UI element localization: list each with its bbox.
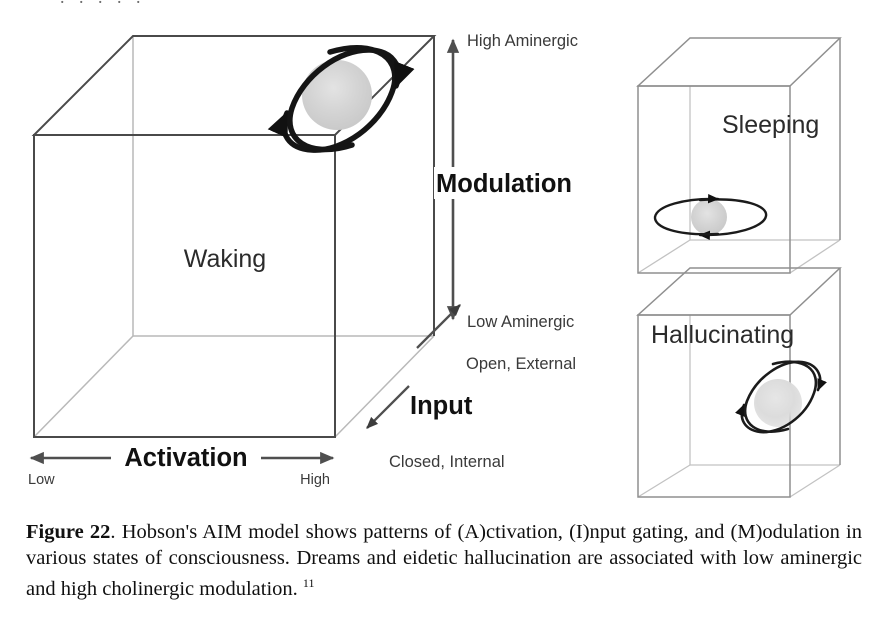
activation-high-label: High	[300, 472, 330, 488]
hallucinating-cube-front-edges	[638, 268, 840, 497]
modulation-high-label: High Aminergic	[467, 32, 578, 50]
state-point-sleeping-sphere	[691, 199, 727, 235]
figure-caption-label: Figure 22	[26, 521, 110, 543]
figure-caption-body: . Hobson's AIM model shows patterns of (…	[26, 521, 862, 600]
input-axis-arrow-upper	[417, 305, 460, 348]
axis-activation: Activation Low High	[28, 442, 333, 488]
small-cube-hallucinating: Hallucinating	[638, 268, 840, 497]
small-cube-sleeping: Sleeping	[638, 38, 840, 273]
hallucinating-cube-state-label: Hallucinating	[651, 321, 794, 349]
input-closed-label: Closed, Internal	[389, 453, 505, 471]
figure-container: . . . . .	[0, 0, 883, 644]
aim-model-diagram: Waking Activation Low High Modulation Hi…	[0, 0, 883, 500]
activation-axis-title: Activation	[124, 444, 247, 472]
state-point-waking-sphere	[302, 60, 372, 130]
figure-caption-reference: 11	[303, 576, 315, 590]
sleeping-cube-front-edges	[638, 38, 840, 273]
sleeping-cube-state-label: Sleeping	[722, 111, 819, 139]
input-axis-arrow-lower	[367, 386, 409, 428]
input-axis-title: Input	[410, 392, 473, 420]
main-cube-state-label: Waking	[184, 245, 266, 273]
input-open-label: Open, External	[466, 355, 576, 373]
axis-modulation: Modulation High Aminergic Low Aminergic	[434, 32, 600, 331]
main-cube-waking: Waking	[34, 36, 434, 437]
modulation-low-label: Low Aminergic	[467, 313, 574, 331]
modulation-axis-title: Modulation	[436, 170, 572, 198]
figure-caption: Figure 22. Hobson's AIM model shows patt…	[26, 520, 862, 602]
activation-low-label: Low	[28, 472, 55, 488]
